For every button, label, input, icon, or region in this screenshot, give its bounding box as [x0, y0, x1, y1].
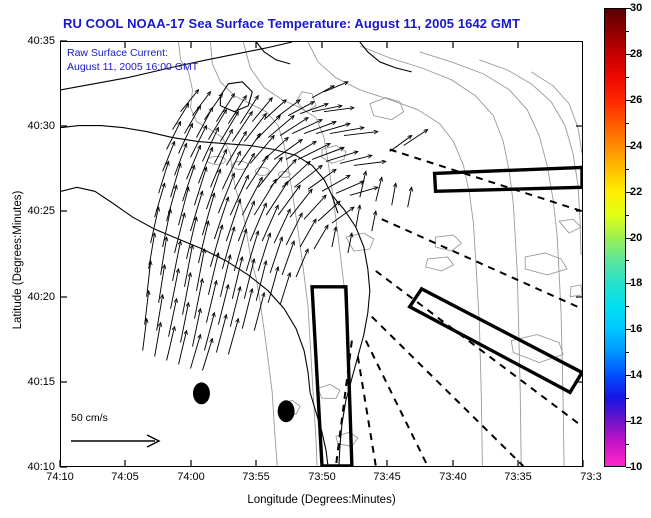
annotation-line-2: August 11, 2005 16:00 GMT	[67, 60, 198, 74]
colorbar-label-30: 30	[630, 2, 642, 14]
colorbar	[604, 8, 626, 467]
colorbar-minor-tick-15	[626, 352, 629, 353]
xtick-label-5: 73:45	[373, 471, 401, 483]
colorbar-label-22: 22	[630, 186, 642, 198]
colorbar-minor-tick-25	[626, 123, 629, 124]
ytick-label-5: 40:10	[10, 461, 55, 473]
xtick-label-4: 73:50	[308, 471, 336, 483]
surface-current-vectors	[143, 82, 428, 371]
colorbar-label-14: 14	[630, 369, 642, 381]
xtick-label-8: 73:3	[580, 471, 601, 483]
raw-current-annotation: Raw Surface Current: August 11, 2005 16:…	[67, 46, 198, 74]
y-axis-title: Latitude (Degrees:Minutes)	[12, 150, 24, 370]
sst-map-figure: RU COOL NOAA-17 Sea Surface Temperature:…	[0, 0, 651, 518]
colorbar-label-16: 16	[630, 323, 642, 335]
annotation-line-1: Raw Surface Current:	[67, 46, 198, 60]
ytick-label-0: 40:35	[10, 35, 55, 47]
xtick-label-1: 74:05	[111, 471, 139, 483]
figure-title: RU COOL NOAA-17 Sea Surface Temperature:…	[0, 16, 583, 31]
map-graphics	[61, 42, 582, 466]
xtick-label-2: 74:00	[177, 471, 205, 483]
colorbar-label-12: 12	[630, 415, 642, 427]
ytick-label-4: 40:15	[10, 376, 55, 388]
scale-arrow-icon	[69, 432, 179, 450]
colorbar-minor-tick-27	[626, 77, 629, 78]
ytick-label-1: 40:30	[10, 120, 55, 132]
colorbar-minor-tick-13	[626, 398, 629, 399]
colorbar-minor-tick-19	[626, 260, 629, 261]
map-plot-area[interactable]: Raw Surface Current: August 11, 2005 16:…	[60, 41, 583, 467]
colorbar-minor-tick-11	[626, 444, 629, 445]
colorbar-minor-tick-21	[626, 215, 629, 216]
xtick-label-7: 73:35	[504, 471, 532, 483]
colorbar-minor-tick-23	[626, 169, 629, 170]
colorbar-label-28: 28	[630, 48, 642, 60]
colorbar-label-20: 20	[630, 232, 642, 244]
transect-boxes	[312, 167, 582, 466]
colorbar-gradient	[604, 8, 626, 467]
scale-legend-label: 50 cm/s	[71, 412, 108, 424]
colorbar-minor-tick-17	[626, 306, 629, 307]
colorbar-minor-tick-29	[626, 31, 629, 32]
x-axis-title: Longitude (Degrees:Minutes)	[60, 494, 583, 506]
coastline	[61, 42, 412, 466]
colorbar-label-24: 24	[630, 140, 642, 152]
velocity-scale-legend: 50 cm/s	[67, 412, 187, 452]
colorbar-label-26: 26	[630, 94, 642, 106]
station-markers	[193, 382, 295, 422]
colorbar-label-18: 18	[630, 277, 642, 289]
xtick-label-6: 73:40	[439, 471, 467, 483]
xtick-label-3: 73:55	[242, 471, 270, 483]
colorbar-label-10: 10	[630, 461, 642, 473]
